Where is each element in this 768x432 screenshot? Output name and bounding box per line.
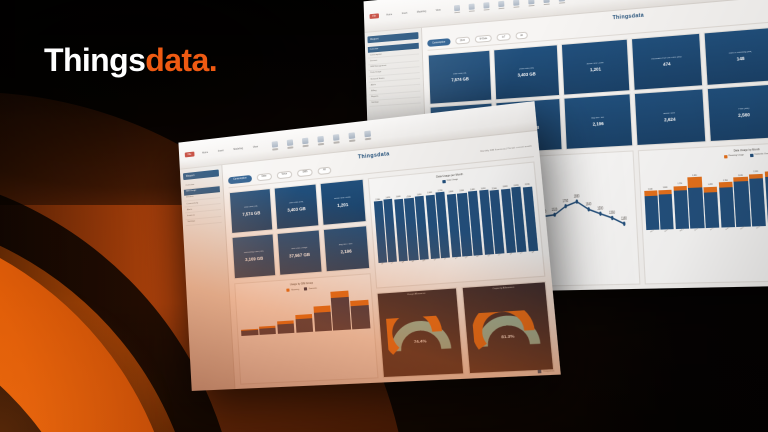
front-ribbon-tab-home[interactable]: Home xyxy=(200,150,210,154)
front-kpi-card[interactable]: Avg MB / SIM2,196 xyxy=(322,225,370,273)
kpi-label: Active SIM Cards xyxy=(334,197,351,201)
promo-canvas: Thingsdata. File Home Insert Modeling Vi… xyxy=(0,0,768,432)
kpi-value: 37,567 GB xyxy=(289,251,310,258)
new-visual-icon[interactable] xyxy=(317,136,324,143)
legend-swatch-domestic xyxy=(304,287,307,290)
front-kpi-card[interactable]: Remaining Data (GB)3,169 GB xyxy=(232,233,277,280)
bar-segment-base xyxy=(749,178,766,226)
kpi-label: Used Data (GB) xyxy=(288,201,303,205)
back-kpi-card[interactable]: Active SIM Cards1,201 xyxy=(561,39,631,96)
bar-column: 1,820 xyxy=(687,161,704,228)
bar-column xyxy=(275,294,294,334)
paste-icon[interactable] xyxy=(272,141,278,148)
back-slicer-mdata[interactable]: M-Data xyxy=(475,35,493,43)
kpi-label: Active SIMs xyxy=(663,112,675,115)
bar-segment-base xyxy=(351,305,370,329)
paste-icon[interactable] xyxy=(454,5,460,11)
front-slicer-voice[interactable]: Voice xyxy=(276,170,292,179)
back-ribbon-tab-modeling[interactable]: Modeling xyxy=(415,9,428,13)
gauge-value: 74.4% xyxy=(414,339,427,345)
bar-segment-base xyxy=(277,324,294,334)
kpi-label: Total Data Usage xyxy=(291,247,308,251)
front-ribbon-file-tab[interactable]: File xyxy=(185,151,195,157)
legend-label: Domestic xyxy=(309,287,317,290)
kpi-value: 2,624 xyxy=(664,117,676,123)
kpi-label: Total Data (GB) xyxy=(244,205,258,209)
bar-column: 1,540 xyxy=(642,164,659,230)
front-kpi-card[interactable]: Used Data (GB)3,403 GB xyxy=(273,183,319,230)
back-ribbon-tab-home[interactable]: Home xyxy=(384,12,394,16)
front-ribbon-tab-insert[interactable]: Insert xyxy=(216,149,226,153)
front-right-column: Data Usage per Month Data Usage 2,5802,6… xyxy=(367,161,554,378)
bar-segment-base xyxy=(241,330,258,336)
front-ribbon-tab-modeling[interactable]: Modeling xyxy=(231,147,245,151)
get-data-icon[interactable] xyxy=(287,140,293,147)
kpi-value: 1,201 xyxy=(590,66,601,72)
front-kpi-card[interactable]: Total Data Usage37,567 GB xyxy=(276,229,322,276)
kpi-value: 2,196 xyxy=(340,248,351,254)
bar-column xyxy=(239,296,258,336)
logo-primary-text: Things xyxy=(44,42,145,78)
back-slicer-year[interactable]: 2024 xyxy=(455,37,470,45)
legend-item: Roaming xyxy=(287,288,300,292)
refresh-icon[interactable] xyxy=(483,2,489,8)
front-slicer-data[interactable]: Data xyxy=(256,172,271,181)
back-kpi-card[interactable]: Active SIMs2,624 xyxy=(634,88,707,145)
back-kpi-card[interactable]: Used Data (GB)3,403 GB xyxy=(493,44,560,100)
bar-column: 1,600 xyxy=(657,163,674,229)
stacked-chart-plot xyxy=(239,288,370,336)
svg-text:1760: 1760 xyxy=(563,198,569,204)
footer-brand-label: Thingsdata xyxy=(543,370,555,373)
kpi-value: 3,403 GB xyxy=(517,71,535,77)
bar-column: 1,720 xyxy=(672,162,689,229)
front-dashboard-body: Report Overview SIM Usage Devices Connec… xyxy=(180,130,561,391)
kpi-value: 2,560 xyxy=(738,112,750,118)
back-kpi-card[interactable]: Total Data (GB)7,574 GB xyxy=(428,50,493,105)
kpi-value: 148 xyxy=(737,56,745,62)
new-visual-icon[interactable] xyxy=(498,1,504,7)
logo-accent-text: data xyxy=(145,42,208,78)
back-kpi-card[interactable]: SIMs in Roaming (MB)148 xyxy=(703,27,768,86)
text-box-icon[interactable] xyxy=(513,0,519,6)
gauge-title: Usage Allowance xyxy=(407,293,426,296)
back-ribbon-tab-insert[interactable]: Insert xyxy=(400,11,410,15)
legend-label: Roaming Usage xyxy=(729,154,744,157)
back-bar-chart[interactable]: Data Usage by Month Roaming Usage Domest… xyxy=(637,138,768,285)
bar-segment-base xyxy=(295,318,313,333)
bar-column xyxy=(350,288,370,329)
back-sidebar-header: Report xyxy=(367,32,418,43)
legend-swatch-roaming xyxy=(723,155,727,158)
kpi-label: Avg MB / SIM xyxy=(591,116,604,119)
svg-text:1180: 1180 xyxy=(621,215,627,221)
bar-column xyxy=(331,290,351,331)
bar-column xyxy=(294,292,314,333)
kpi-value: 474 xyxy=(663,61,671,67)
kpi-label: Active SIM Cards xyxy=(587,62,604,66)
back-ribbon-icon-group[interactable] xyxy=(454,0,565,11)
front-main-area: Total Data (GB)7,574 GB Used Data (GB)3,… xyxy=(229,161,554,385)
bar-segment-base xyxy=(674,190,689,228)
kpi-value: 7,574 GB xyxy=(451,76,469,82)
back-kpi-card[interactable]: Avg MB / SIM2,196 xyxy=(563,93,633,149)
front-bar-chart[interactable]: Data Usage per Month Data Usage 2,5802,6… xyxy=(367,161,545,289)
bar-segment-base xyxy=(314,312,332,332)
brand-mark-icon xyxy=(537,370,541,374)
legend-label: Data Usage xyxy=(447,179,458,182)
kpi-value: 7,574 GB xyxy=(242,210,260,217)
legend-item: Domestic Usage xyxy=(749,152,768,156)
bar-segment-base xyxy=(659,193,674,229)
share-icon[interactable] xyxy=(559,0,565,2)
gauge-arc-2 xyxy=(472,309,544,351)
bar-segment-base xyxy=(644,195,659,229)
kpi-value: 3,403 GB xyxy=(287,205,306,212)
bar-segment-top xyxy=(688,177,702,188)
legend-item: Roaming Usage xyxy=(723,154,744,158)
front-gauge-capacity-allowance[interactable]: Capacity Allowance 81.3% xyxy=(461,281,554,374)
bar-column xyxy=(312,291,332,332)
kpi-value: 3,169 GB xyxy=(245,255,263,262)
kpi-value: 1,201 xyxy=(337,201,348,207)
back-ribbon-file-tab[interactable]: File xyxy=(370,13,379,19)
get-data-icon[interactable] xyxy=(469,3,475,9)
publish-icon[interactable] xyxy=(349,133,356,140)
front-dashboard-window[interactable]: File Home Insert Modeling View Report Ov… xyxy=(178,101,560,391)
front-stacked-chart[interactable]: Usage by SIM Group Roaming Domestic xyxy=(234,273,378,384)
kpi-label: Avg MB / SIM xyxy=(339,243,353,247)
svg-text:1880: 1880 xyxy=(574,193,580,199)
svg-text:1640: 1640 xyxy=(586,201,592,207)
legend-swatch-data-usage xyxy=(442,179,446,182)
front-slicer-all[interactable]: All xyxy=(318,166,332,174)
front-sidebar-header: Report xyxy=(183,169,219,180)
bar-column xyxy=(257,295,276,335)
gauge-arc-1 xyxy=(386,315,455,356)
front-gauge-usage-allowance[interactable]: Usage Allowance 74.4% xyxy=(376,287,464,378)
front-gauge-row: Usage Allowance 74.4% Capacity Allowance xyxy=(376,281,554,378)
back-slicer-iot[interactable]: IoT xyxy=(497,33,511,41)
front-ribbon-tab-view[interactable]: View xyxy=(251,145,260,149)
svg-text:1500: 1500 xyxy=(597,205,603,211)
front-slicer-consumption[interactable]: Consumption xyxy=(228,174,252,183)
svg-text:1520: 1520 xyxy=(552,206,558,212)
back-kpi-card[interactable]: Peak (MB)2,560 xyxy=(706,83,768,141)
back-kpi-card[interactable]: Exceeded Fair Use Limit (MB)474 xyxy=(631,33,704,91)
back-ribbon-tab-view[interactable]: View xyxy=(434,8,443,12)
kpi-label: Remaining Data (GB) xyxy=(244,251,264,255)
bar-segment-base xyxy=(719,187,735,227)
bar-column: 1,600 xyxy=(702,161,719,228)
bar-segment-base xyxy=(688,187,704,228)
kpi-label: SIMs in Roaming (MB) xyxy=(728,50,752,54)
front-left-column: Total Data (GB)7,574 GB Used Data (GB)3,… xyxy=(229,178,378,384)
legend-label: Domestic Usage xyxy=(755,153,768,156)
logo-dot: . xyxy=(209,42,217,78)
kpi-label: Used Data (GB) xyxy=(519,67,534,71)
legend-swatch-roaming xyxy=(287,289,290,292)
legend-swatch-domestic xyxy=(749,153,753,156)
bar-segment-base xyxy=(331,297,351,330)
kpi-value: 2,196 xyxy=(593,121,604,127)
bar-chart-plot: 2,5802,6202,6002,5602,6102,6402,7002,600… xyxy=(373,176,538,262)
back-slicer-consumption[interactable]: Consumption xyxy=(427,38,450,47)
front-slicer-sms[interactable]: SMS xyxy=(297,168,313,177)
legend-item: Domestic xyxy=(304,287,317,291)
transform-icon[interactable] xyxy=(528,0,534,4)
front-report-canvas: Thingsdata Monthly SIM Summary | Period:… xyxy=(222,130,560,389)
refresh-icon[interactable] xyxy=(302,138,309,145)
transform-icon[interactable] xyxy=(333,134,340,141)
bar-segment-base xyxy=(259,328,276,335)
share-icon[interactable] xyxy=(364,131,371,138)
bar-chart-plot: 1,5401,6001,7201,8201,6001,7602,0202,120… xyxy=(642,154,768,230)
legend-label: Roaming xyxy=(291,288,299,291)
kpi-label: Peak (MB) xyxy=(738,107,749,110)
gauge-title: Capacity Allowance xyxy=(492,287,514,291)
bar-segment-base xyxy=(734,181,750,227)
front-kpi-grid: Total Data (GB)7,574 GB Used Data (GB)3,… xyxy=(229,178,370,279)
kpi-label: Exceeded Fair Use Limit (MB) xyxy=(651,56,681,61)
front-kpi-card[interactable]: Total Data (GB)7,574 GB xyxy=(229,187,274,234)
front-footer-brand: Thingsdata xyxy=(537,369,554,373)
front-kpi-card[interactable]: Active SIM Cards1,201 xyxy=(319,178,366,226)
thingsdata-logo: Thingsdata. xyxy=(44,44,217,76)
kpi-label: Total Data (GB) xyxy=(453,72,467,76)
legend-item: Data Usage xyxy=(442,178,458,183)
publish-icon[interactable] xyxy=(543,0,549,3)
back-slicer-all[interactable]: All xyxy=(515,32,528,40)
bar-segment-base xyxy=(704,192,720,228)
gauge-value: 81.3% xyxy=(501,334,515,340)
front-ribbon-icon-group[interactable] xyxy=(272,131,371,148)
svg-text:1360: 1360 xyxy=(609,209,615,215)
